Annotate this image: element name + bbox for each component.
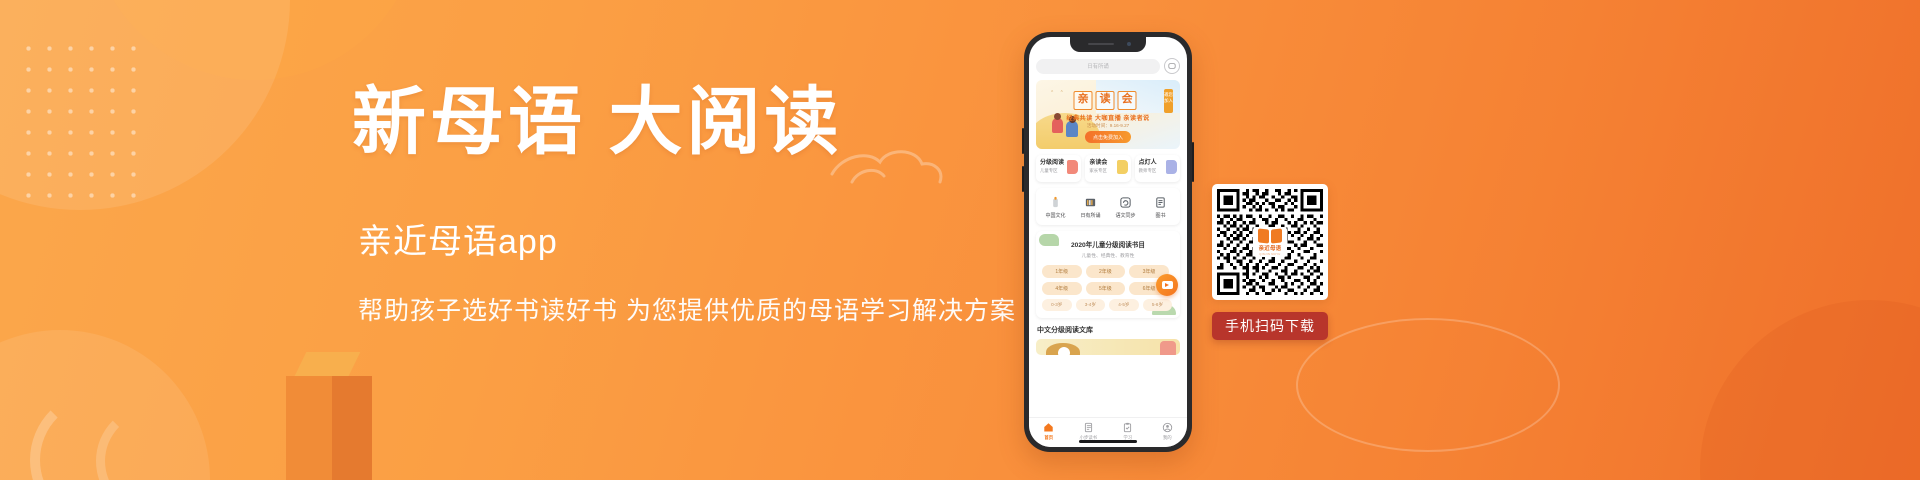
qr-center-logo: 亲近母语 QINJIN MUYU [1253,227,1287,257]
decorative-ellipse [1296,318,1560,452]
tile-parent-club[interactable]: 亲读会 家长专区 [1085,155,1130,182]
recite-icon [1084,195,1098,209]
quick-item-label: 图书 [1143,212,1178,219]
grade-chip[interactable]: 2年级 [1086,265,1126,278]
quick-item-recite[interactable]: 日有所诵 [1073,195,1108,219]
tab-home[interactable]: 首页 [1029,422,1069,441]
grade-chip[interactable]: 5年级 [1086,282,1126,295]
hero-banner[interactable]: ⌃ ⌃ 亲 读 会 邀您加入 经典共读 大咖直播 亲读者说 活动时间：9.16-… [1036,80,1180,149]
message-icon[interactable] [1164,58,1180,74]
download-button[interactable]: 手机扫码下载 [1212,312,1328,340]
tab-study[interactable]: 学习 [1108,422,1148,441]
sync-icon [1119,195,1133,209]
banner-copy: 新母语 大阅读 亲近母语app 帮助孩子选好书读好书 为您提供优质的母语学习解决… [352,86,1012,327]
hero-cta-button[interactable]: 点击免费加入 [1085,131,1131,143]
search-input[interactable]: 日有所诵 [1036,59,1160,74]
quick-item-books[interactable]: 图书 [1143,195,1178,219]
reading-icon [1083,422,1094,433]
book-icon [1154,195,1168,209]
child-figure-blue [1066,121,1078,137]
video-play-icon[interactable] [1156,274,1178,296]
library-title: 中文分级阅读文库 [1037,325,1180,335]
decorative-circle-bottom-left [0,330,210,480]
hero-side-tag: 邀您加入 [1164,89,1173,113]
library-art-3 [1160,341,1176,355]
book-logo-icon [1258,229,1282,243]
grade-chip[interactable]: 1年级 [1042,265,1082,278]
banner-tagline: 帮助孩子选好书读好书 为您提供优质的母语学习解决方案 [358,291,1012,327]
quick-item-label: 中国文化 [1038,212,1073,219]
quick-icon-row: 中国文化 日有所诵 [1036,188,1180,225]
page-title: 新母语 大阅读 [352,86,1012,160]
home-icon [1043,422,1054,433]
download-block: 亲近母语 QINJIN MUYU 手机扫码下载 [1212,184,1328,340]
tab-profile[interactable]: 我的 [1148,422,1188,441]
camera-icon [1127,42,1131,46]
profile-icon [1162,422,1173,433]
phone-mockup: 日有所诵 ⌃ ⌃ 亲 读 会 [1024,32,1192,452]
app-search-bar: 日有所诵 [1036,58,1180,74]
grade-chip-group: 1年级 2年级 3年级 4年级 5年级 6年级 0-3岁 3-4岁 4-5岁 5… [1042,265,1174,311]
quick-item-culture[interactable]: 中国文化 [1038,195,1073,219]
book-shape-icon [1166,160,1177,174]
phone-volume-down-button [1022,166,1024,192]
child-figure-red [1052,118,1063,133]
quick-item-label: 日有所诵 [1073,212,1108,219]
decorative-circle-top-left [0,0,290,210]
book-shape-icon [1067,160,1078,174]
qr-logo-name: 亲近母语 [1259,244,1282,252]
phone-volume-up-button [1022,128,1024,154]
decorative-circle-bottom-right [1700,300,1920,480]
grade-chip[interactable]: 4年级 [1042,282,1082,295]
hero-title: 亲 读 会 [1074,91,1137,110]
tile-teacher-zone[interactable]: 点灯人 教师专区 [1135,155,1180,182]
hero-date: 活动时间：9.16-9.27 [1087,123,1129,129]
library-card[interactable] [1036,339,1180,355]
tab-label: 我的 [1148,435,1188,441]
hero-char-2: 读 [1096,91,1115,110]
age-chip[interactable]: 4-5岁 [1109,299,1139,311]
phone-power-button [1192,142,1194,182]
birds-icon: ⌃ ⌃ [1050,90,1066,96]
phone-screen: 日有所诵 ⌃ ⌃ 亲 读 会 [1029,37,1187,447]
book-shape-icon [1117,160,1128,174]
library-art-2 [1058,347,1070,355]
category-tiles: 分级阅读 儿童专区 亲读会 家长专区 点灯人 教师专区 [1036,155,1180,182]
home-indicator [1079,440,1137,443]
age-chip[interactable]: 3-4岁 [1076,299,1106,311]
age-chip[interactable]: 0-3岁 [1042,299,1072,311]
age-chip[interactable]: 5-6岁 [1143,299,1173,311]
qr-code: 亲近母语 QINJIN MUYU [1212,184,1328,300]
speaker-icon [1088,43,1114,45]
quick-item-sync[interactable]: 语文同步 [1108,195,1143,219]
study-icon [1122,422,1133,433]
quick-item-label: 语文同步 [1108,212,1143,219]
culture-icon [1049,195,1063,209]
hero-char-1: 亲 [1074,91,1093,110]
decorative-circle-top [90,0,420,80]
decorative-arc-inner [96,404,210,480]
dot-grid-pattern [18,38,148,213]
app-name: 亲近母语app [358,214,1012,263]
decorative-arc-outer [30,390,170,480]
qr-logo-pinyin: QINJIN MUYU [1259,253,1280,256]
promo-banner: 新母语 大阅读 亲近母语app 帮助孩子选好书读好书 为您提供优质的母语学习解决… [0,0,1920,480]
hero-subtitle: 经典共读 大咖直播 亲读者说 [1066,113,1149,122]
tab-label: 首页 [1029,435,1069,441]
tab-reading[interactable]: 小步读书 [1069,422,1109,441]
tile-graded-reading[interactable]: 分级阅读 儿童专区 [1036,155,1081,182]
hero-char-3: 会 [1118,91,1137,110]
booklist-subtitle: 儿童性、经典性、教育性 [1042,252,1174,259]
phone-notch [1070,37,1146,52]
booklist-title: 2020年儿童分级阅读书目 [1042,239,1174,249]
booklist-section: 2020年儿童分级阅读书目 儿童性、经典性、教育性 1年级 2年级 3年级 4年… [1036,231,1180,318]
